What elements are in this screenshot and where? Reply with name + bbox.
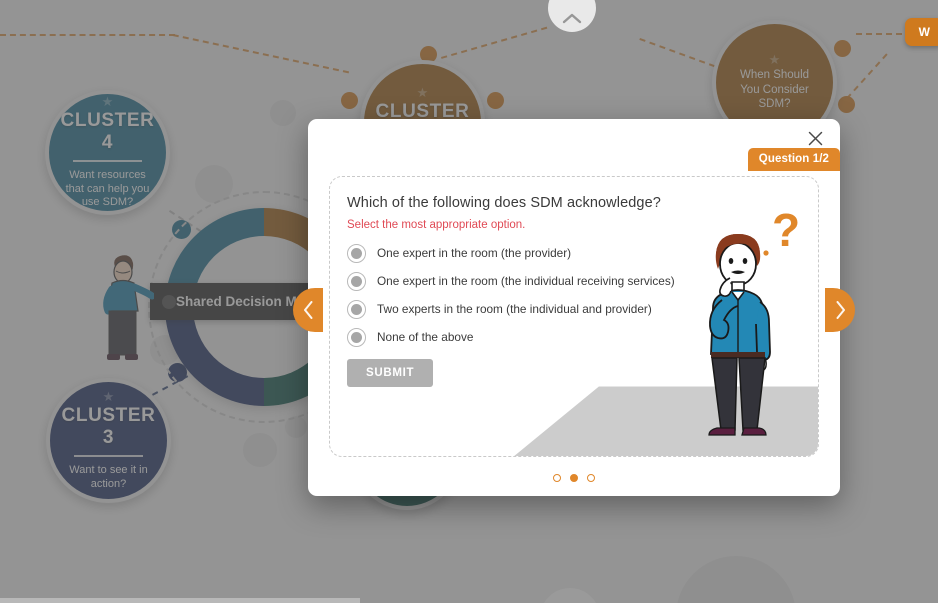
decor-strip-bottom	[0, 598, 360, 603]
pagination-dot-2[interactable]	[570, 474, 578, 482]
answer-option-label: One expert in the room (the individual r…	[377, 274, 675, 288]
pagination-dots	[308, 474, 840, 482]
close-icon[interactable]	[803, 126, 827, 150]
svg-text:?: ?	[772, 206, 800, 256]
question-instruction: Select the most appropriate option.	[347, 219, 525, 231]
question-title: Which of the following does SDM acknowle…	[347, 195, 661, 211]
answer-option-1[interactable]: One expert in the room (the provider)	[347, 239, 675, 267]
question-counter-badge: Question 1/2	[748, 148, 840, 171]
answer-option-3[interactable]: Two experts in the room (the individual …	[347, 295, 675, 323]
answer-option-label: One expert in the room (the provider)	[377, 246, 571, 260]
answer-option-label: Two experts in the room (the individual …	[377, 302, 652, 316]
answer-options-list: One expert in the room (the provider) On…	[347, 239, 675, 351]
pagination-dot-3[interactable]	[587, 474, 595, 482]
quiz-modal: Question 1/2 Which of the following does…	[308, 119, 840, 496]
chevron-left-icon	[302, 300, 315, 320]
quiz-card: Which of the following does SDM acknowle…	[329, 176, 819, 457]
pagination-dot-1[interactable]	[553, 474, 561, 482]
radio-button-icon[interactable]	[347, 272, 366, 291]
edge-action-pill[interactable]: W	[905, 18, 938, 46]
submit-button[interactable]: SUBMIT	[347, 359, 433, 387]
answer-option-4[interactable]: None of the above	[347, 323, 675, 351]
answer-option-label: None of the above	[377, 330, 473, 344]
answer-option-2[interactable]: One expert in the room (the individual r…	[347, 267, 675, 295]
chevron-right-icon	[834, 300, 847, 320]
chevron-up-icon	[562, 12, 582, 24]
thinking-person-illustration: ?	[686, 206, 816, 456]
close-x-glyph	[808, 131, 823, 146]
radio-button-icon[interactable]	[347, 300, 366, 319]
radio-button-icon[interactable]	[347, 244, 366, 263]
radio-button-icon[interactable]	[347, 328, 366, 347]
